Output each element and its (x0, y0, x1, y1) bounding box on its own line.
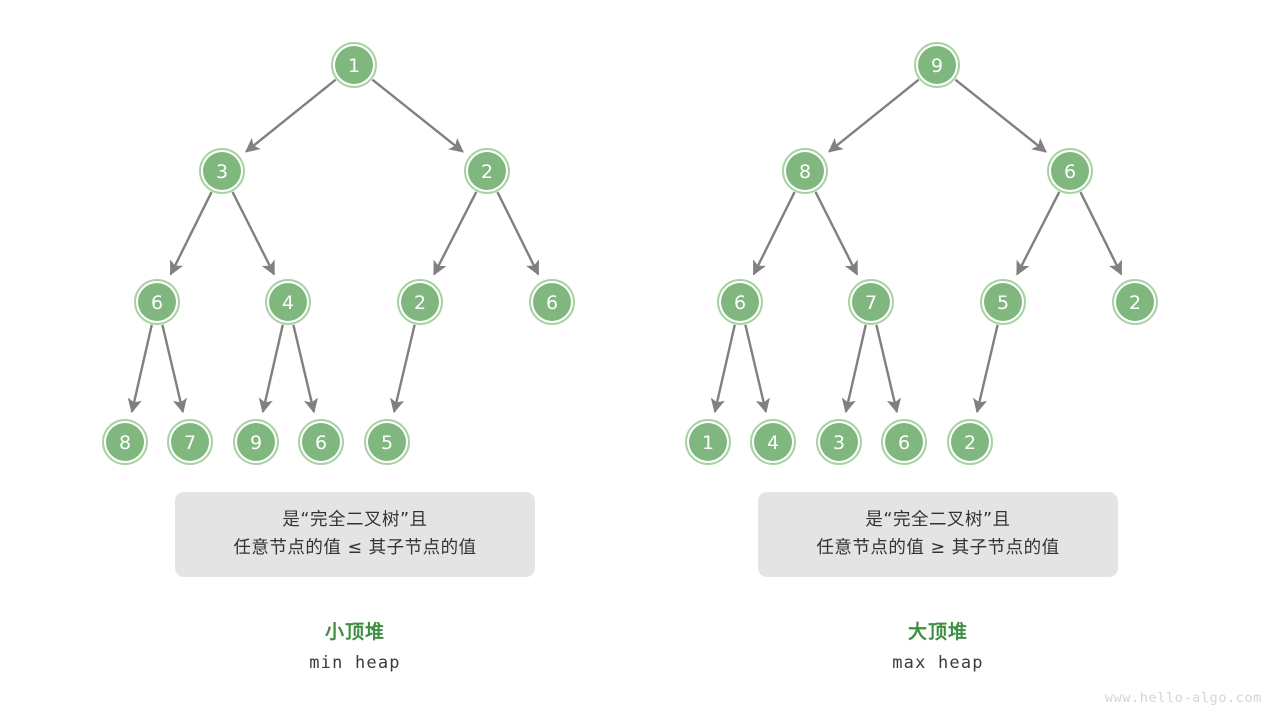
node-value: 3 (833, 432, 845, 454)
tree-edge (1080, 192, 1121, 274)
node-value: 6 (546, 292, 558, 314)
node-value: 6 (898, 432, 910, 454)
tree-node: 2 (465, 149, 509, 193)
tree-node: 6 (135, 280, 179, 324)
tree-edge (263, 325, 283, 412)
node-value: 5 (997, 292, 1009, 314)
node-value: 1 (702, 432, 714, 454)
node-value: 1 (348, 55, 360, 77)
tree-node: 2 (398, 280, 442, 324)
node-value: 5 (381, 432, 393, 454)
node-value: 8 (119, 432, 131, 454)
tree-edge (816, 192, 857, 274)
tree-edge (233, 192, 274, 274)
caption-line-1: 是“完全二叉树”且 (282, 510, 427, 532)
tree-edge (171, 192, 212, 274)
tree-edge (372, 80, 462, 152)
tree-edge (715, 325, 735, 412)
caption-box-min-heap: 是“完全二叉树”且 任意节点的值 ≤ 其子节点的值 (175, 492, 535, 577)
caption-box-max-heap: 是“完全二叉树”且 任意节点的值 ≥ 其子节点的值 (758, 492, 1118, 577)
tree-node: 4 (751, 420, 795, 464)
tree-edge (754, 192, 795, 274)
node-value: 6 (151, 292, 163, 314)
tree-edge (977, 325, 998, 412)
heap-title-min: 小顶堆 (205, 617, 505, 644)
caption-line-2: 任意节点的值 ≤ 其子节点的值 (233, 538, 476, 560)
tree-node: 1 (332, 43, 376, 87)
tree-edge (434, 192, 476, 274)
tree-edge (293, 325, 314, 412)
tree-node: 2 (948, 420, 992, 464)
tree-node: 9 (234, 420, 278, 464)
node-value: 6 (1064, 161, 1076, 183)
tree-edge (394, 325, 415, 412)
watermark: www.hello-algo.com (1105, 690, 1262, 706)
tree-node: 7 (168, 420, 212, 464)
tree-edge (132, 325, 152, 412)
caption-line-2: 任意节点的值 ≥ 其子节点的值 (816, 538, 1059, 560)
node-value: 4 (282, 292, 294, 314)
tree-node: 2 (1113, 280, 1157, 324)
node-value: 2 (481, 161, 493, 183)
tree-edge (162, 325, 183, 412)
tree-edges (132, 80, 1121, 412)
tree-edge (876, 325, 897, 412)
heap-subtitle-min: min heap (205, 653, 505, 673)
tree-node: 5 (981, 280, 1025, 324)
heap-diagram: 132642687965986675214362 是“完全二叉树”且 任意节点的… (0, 0, 1280, 720)
tree-node: 6 (882, 420, 926, 464)
node-value: 2 (414, 292, 426, 314)
caption-line-1: 是“完全二叉树”且 (865, 510, 1010, 532)
tree-edge (829, 80, 919, 152)
tree-edge (497, 192, 538, 274)
tree-node: 7 (849, 280, 893, 324)
tree-node: 8 (783, 149, 827, 193)
tree-node: 8 (103, 420, 147, 464)
tree-node: 5 (365, 420, 409, 464)
tree-nodes: 132642687965986675214362 (103, 43, 1157, 464)
tree-edge (745, 325, 766, 412)
tree-node: 6 (1048, 149, 1092, 193)
tree-node: 6 (299, 420, 343, 464)
node-value: 9 (250, 432, 262, 454)
heap-title-max: 大顶堆 (788, 617, 1088, 644)
tree-node: 1 (686, 420, 730, 464)
tree-graph-layer: 132642687965986675214362 (0, 0, 1280, 720)
node-value: 2 (964, 432, 976, 454)
node-value: 3 (216, 161, 228, 183)
tree-node: 3 (200, 149, 244, 193)
tree-node: 6 (718, 280, 762, 324)
tree-node: 6 (530, 280, 574, 324)
tree-edge (955, 80, 1045, 152)
node-value: 4 (767, 432, 779, 454)
tree-node: 3 (817, 420, 861, 464)
tree-node: 9 (915, 43, 959, 87)
tree-edge (1017, 192, 1059, 274)
heap-subtitle-max: max heap (788, 653, 1088, 673)
node-value: 8 (799, 161, 811, 183)
node-value: 6 (315, 432, 327, 454)
node-value: 7 (184, 432, 196, 454)
node-value: 9 (931, 55, 943, 77)
tree-node: 4 (266, 280, 310, 324)
node-value: 7 (865, 292, 877, 314)
node-value: 2 (1129, 292, 1141, 314)
node-value: 6 (734, 292, 746, 314)
tree-edge (846, 325, 866, 412)
tree-edge (246, 80, 336, 152)
